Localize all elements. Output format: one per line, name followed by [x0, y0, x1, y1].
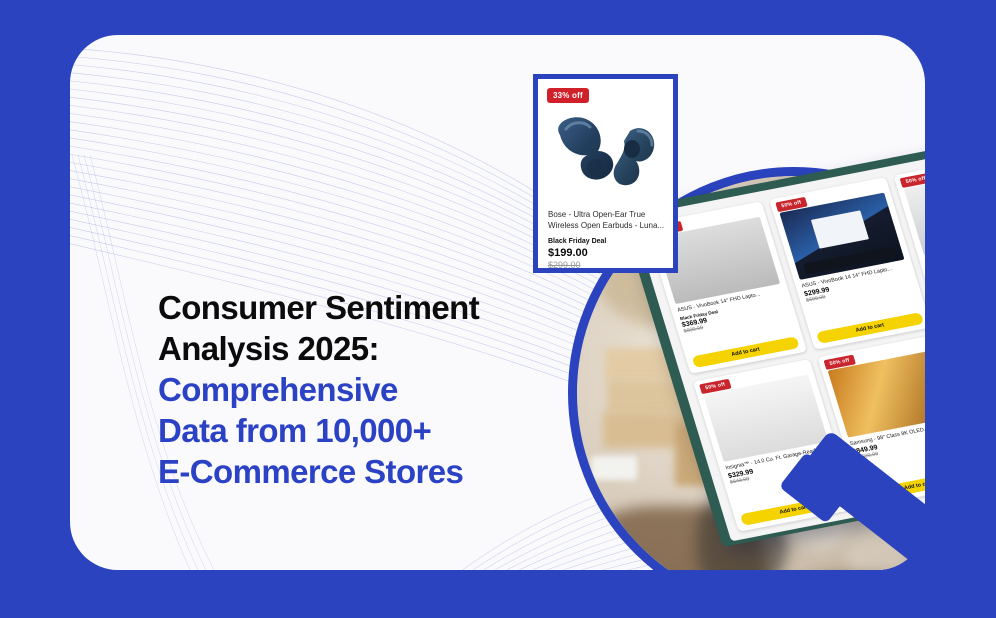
- headline-line-5: E-Commerce Stores: [158, 451, 558, 492]
- banner-stage: Consumer Sentiment Analysis 2025: Compre…: [0, 0, 996, 618]
- featured-product-details: Bose - Ultra Open-Ear True Wireless Open…: [548, 209, 665, 270]
- deal-label: Black Friday Deal: [548, 238, 665, 245]
- page-title: Consumer Sentiment Analysis 2025: Compre…: [158, 287, 558, 492]
- headline-line-1: Consumer Sentiment: [158, 287, 558, 328]
- product-was-price: $299.00: [548, 260, 665, 270]
- headline-line-3: Comprehensive: [158, 369, 558, 410]
- headline-line-4: Data from 10,000+: [158, 410, 558, 451]
- discount-badge: 33% off: [547, 88, 589, 103]
- featured-product-card[interactable]: 33% off: [533, 74, 678, 273]
- earbuds-icon: [538, 105, 673, 205]
- product-title: Bose - Ultra Open-Ear True Wireless Open…: [548, 209, 665, 231]
- headline-line-2: Analysis 2025:: [158, 328, 558, 369]
- product-price: $199.00: [548, 247, 665, 259]
